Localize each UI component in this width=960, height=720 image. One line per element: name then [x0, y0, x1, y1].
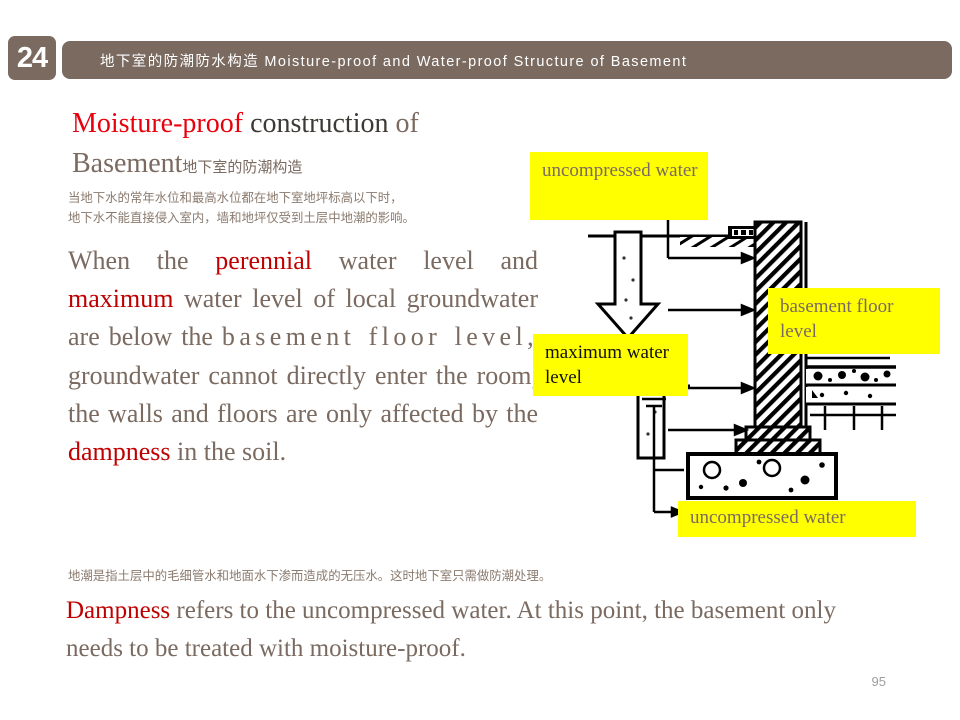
cn-paragraph-1-line-2: 地下水不能直接侵入室内，墙和地坪仅受到土层中地潮的影响。 [68, 208, 538, 228]
title-mid-word: construction [250, 108, 388, 139]
title-line2: Basement [72, 148, 182, 179]
en-red-dampness: dampness [68, 437, 171, 466]
en-red-perennial: perennial [215, 246, 312, 275]
en-seg-5: in the soil. [171, 437, 287, 466]
en-seg-2: water level and [312, 246, 538, 275]
page-title: Moisture-proof construction of Basement地… [72, 104, 542, 184]
en-red-dampness-footer: Dampness [66, 597, 170, 624]
callout-maximum-water-level: maximum water level [533, 334, 688, 396]
header-bar: 地下室的防潮防水构造 Moisture-proof and Water-proo… [62, 41, 952, 79]
title-cn-subtitle: 地下室的防潮构造 [182, 158, 302, 176]
en-spaced-phrase: basement floor level, [222, 322, 538, 351]
cn-paragraph-1: 当地下水的常年水位和最高水位都在地下室地坪标高以下时， 地下水不能直接侵入室内，… [68, 188, 538, 229]
title-tail-word: of [396, 108, 419, 139]
slide-root: 24 地下室的防潮防水构造 Moisture-proof and Water-p… [0, 0, 960, 720]
cn-paragraph-1-line-1: 当地下水的常年水位和最高水位都在地下室地坪标高以下时， [68, 188, 538, 208]
en-footer-rest: refers to the uncompressed water. At thi… [66, 597, 836, 662]
callout-basement-floor-level: basement floor level [768, 288, 940, 354]
page-number: 95 [872, 674, 886, 689]
cn-paragraph-2: 地潮是指土层中的毛细管水和地面水下渗而造成的无压水。这时地下室只需做防潮处理。 [68, 566, 888, 586]
header-title: 地下室的防潮防水构造 Moisture-proof and Water-proo… [62, 50, 687, 71]
callout-uncompressed-water-top: uncompressed water [530, 152, 708, 220]
en-red-maximum: maximum [68, 284, 173, 313]
en-body-paragraph: When the perennial water level and maxim… [68, 242, 538, 471]
callout-uncompressed-water-bottom: uncompressed water [678, 501, 916, 537]
en-footer-paragraph: Dampness refers to the uncompressed wate… [66, 592, 896, 668]
en-seg-1: When the [68, 246, 215, 275]
en-seg-4: groundwater cannot directly enter the ro… [68, 361, 538, 428]
slide-number-badge: 24 [8, 36, 56, 80]
title-red-word: Moisture-proof [72, 108, 243, 139]
